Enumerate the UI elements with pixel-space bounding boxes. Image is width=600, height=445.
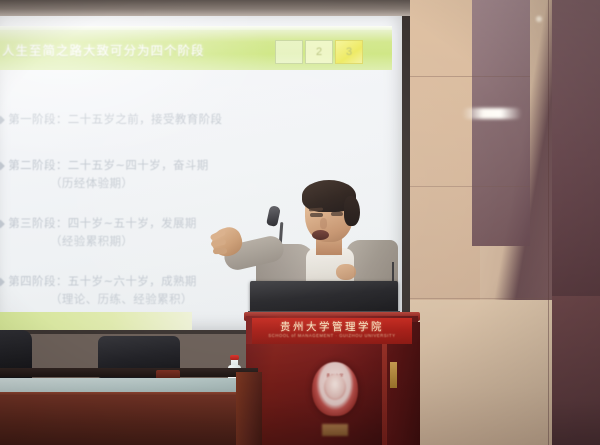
podium-banner: 贵州大学管理学院 SCHOOL of MANAGEMENT · GUIZHOU … xyxy=(252,318,412,344)
podium-crest-base xyxy=(322,424,348,436)
bullet-marker-1: ◆ xyxy=(0,112,5,126)
slide-header-box-3: 3 xyxy=(335,40,363,64)
slide-bullet-1: ◆第一阶段：二十五岁之前，接受教育阶段 xyxy=(0,112,222,127)
slide-bullet-2: ◆第二阶段：二十五岁~四十岁，奋斗期 xyxy=(0,158,209,173)
podium-gold-trim xyxy=(390,362,397,388)
bullet-marker-2: ◆ xyxy=(0,158,5,172)
wall-dark-lower-right xyxy=(552,296,600,445)
bullet-marker-4: ◆ xyxy=(0,274,5,288)
slide-bullet-3: ◆第三阶段：四十岁~五十岁，发展期 xyxy=(0,216,197,231)
slide-bullet-2-text: 第二阶段：二十五岁~四十岁，奋斗期 xyxy=(8,158,208,172)
slide-bullet-3-sub: （经验累积期） xyxy=(50,234,133,249)
speaker-eye-left xyxy=(310,213,323,217)
slide-bullet-4-sub: （理论、历练、经验累积） xyxy=(50,292,193,307)
university-crest-center xyxy=(324,374,346,400)
slide-header-box-3-mark: 3 xyxy=(346,46,352,58)
slide-header-box-2-mark: 2 xyxy=(316,46,322,58)
wall-seam xyxy=(404,186,530,187)
wall-panel-mauve xyxy=(472,0,530,246)
lecture-photo: 人生至简之路大致可分为四个阶段 2 3 ◆第一阶段：二十五岁之前，接受教育阶段 … xyxy=(0,0,600,445)
university-crest-icon: 贵州大学 xyxy=(312,362,358,416)
bullet-marker-3: ◆ xyxy=(0,216,5,230)
wall-light-spot xyxy=(536,16,542,22)
podium-banner-english: SCHOOL of MANAGEMENT · GUIZHOU UNIVERSIT… xyxy=(268,333,395,339)
speaker-mouth xyxy=(312,230,329,240)
slide-bullet-2-sub: （历经体验期） xyxy=(50,176,133,191)
slide-bullet-1-text: 第一阶段：二十五岁之前，接受教育阶段 xyxy=(8,112,222,126)
speaker-eye-right xyxy=(331,212,343,216)
table-back-rail xyxy=(0,368,258,377)
wall-light-reflection xyxy=(462,108,522,119)
speaker-finger xyxy=(213,248,227,254)
podium-banner-chinese: 贵州大学管理学院 xyxy=(280,321,384,333)
speaker-nose xyxy=(320,218,327,229)
slide-header-box-2: 2 xyxy=(305,40,333,64)
conference-table-front xyxy=(0,396,258,445)
slide-header-box-1 xyxy=(275,40,303,64)
slide-footer-band xyxy=(0,312,192,330)
wall-seam xyxy=(404,76,530,77)
table-right-edge xyxy=(236,372,262,445)
slide-bullet-3-text: 第三阶段：四十岁~五十岁，发展期 xyxy=(8,216,197,230)
wall-dark-upper-right xyxy=(552,0,600,296)
laptop-icon xyxy=(250,281,398,314)
wall-panel-tan xyxy=(404,0,480,300)
wall-vertical-seam xyxy=(548,0,549,445)
projection-screen-top-edge xyxy=(0,0,410,16)
slide-bullet-4: ◆第四阶段：五十岁~六十岁，成熟期 xyxy=(0,274,197,289)
wall-lower-panel xyxy=(404,300,552,445)
slide-bullet-4-text: 第四阶段：五十岁~六十岁，成熟期 xyxy=(8,274,197,288)
speaker-hair-side xyxy=(344,196,360,226)
slide-title: 人生至简之路大致可分为四个阶段 xyxy=(2,42,264,60)
